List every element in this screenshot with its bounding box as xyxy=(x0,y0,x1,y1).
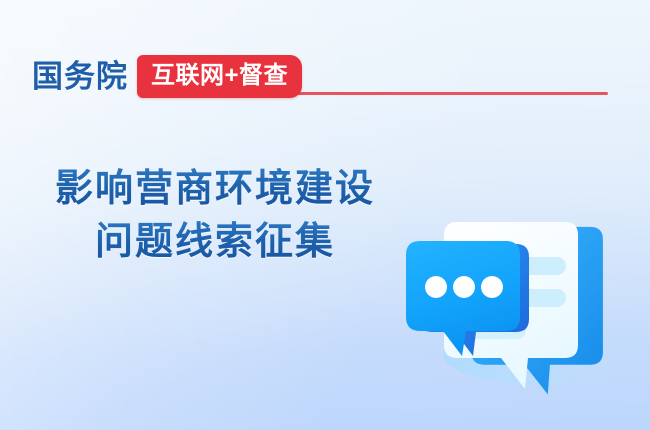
chat-bubbles-illustration xyxy=(398,205,650,410)
program-badge: 互联网+督查 xyxy=(137,55,302,98)
organization-name: 国务院 xyxy=(32,61,128,92)
headline-line-1: 影响营商环境建设 xyxy=(0,163,430,216)
page-title: 影响营商环境建设 问题线索征集 xyxy=(0,163,430,269)
brand-lockup: 国务院 互联网+督查 xyxy=(32,55,302,98)
header-divider-rule xyxy=(288,92,608,95)
promo-banner: 国务院 互联网+督查 影响营商环境建设 问题线索征集 xyxy=(0,0,650,430)
typing-dot-1 xyxy=(425,276,447,298)
typing-dot-2 xyxy=(453,276,475,298)
typing-dot-3 xyxy=(481,276,503,298)
headline-line-2: 问题线索征集 xyxy=(0,216,430,269)
